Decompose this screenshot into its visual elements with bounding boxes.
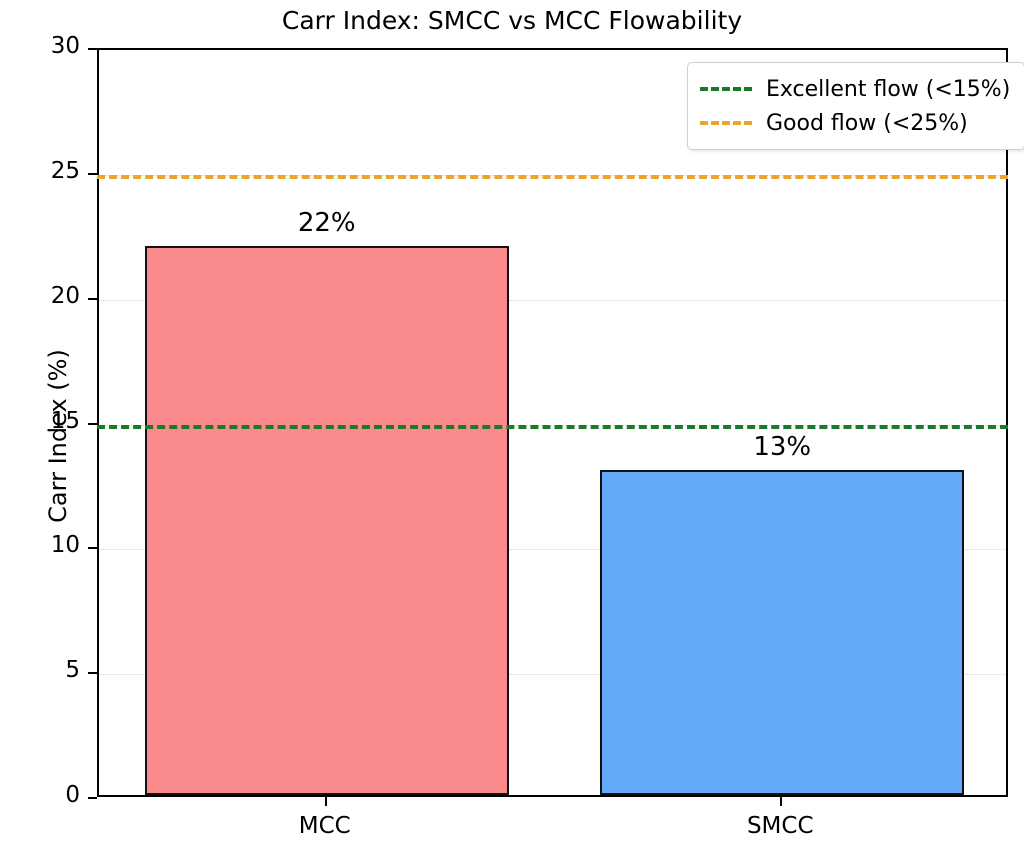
y-tick (88, 672, 97, 674)
x-tick-label-mcc: MCC (175, 813, 475, 839)
excellent-flow-line (97, 425, 1008, 429)
y-tick (88, 547, 97, 549)
page-title: Carr Index: SMCC vs MCC Flowability (0, 6, 1024, 35)
x-tick-label-smcc: SMCC (630, 813, 930, 839)
x-tick (780, 797, 782, 806)
y-tick-label-15: 15 (0, 408, 80, 434)
legend-dashed-line-icon (700, 87, 752, 91)
y-tick (88, 423, 97, 425)
y-tick-label-0: 0 (0, 782, 80, 808)
bar-value-label-smcc: 13% (652, 432, 912, 462)
plot-inner: 22%13% (99, 50, 1006, 795)
bar-value-label-mcc: 22% (197, 208, 457, 238)
bar-mcc[interactable] (145, 246, 509, 795)
plot-area: 22%13% (97, 48, 1008, 797)
y-tick (88, 173, 97, 175)
y-axis-title: Carr Index (%) (44, 306, 72, 566)
y-tick (88, 48, 97, 50)
bar-smcc[interactable] (600, 470, 964, 795)
legend-item-good-flow[interactable]: Good flow (<25%) (700, 106, 1010, 140)
x-tick (325, 797, 327, 806)
y-tick-label-5: 5 (0, 657, 80, 683)
legend-item-label: Good flow (<25%) (766, 111, 968, 136)
legend-item-label: Excellent flow (<15%) (766, 77, 1010, 102)
y-tick-label-20: 20 (0, 283, 80, 309)
y-tick (88, 298, 97, 300)
y-tick-label-30: 30 (0, 33, 80, 59)
good-flow-line (97, 175, 1008, 179)
y-tick (88, 797, 97, 799)
chart-legend: Excellent flow (<15%)Good flow (<25%) (687, 62, 1024, 150)
legend-item-excellent-flow[interactable]: Excellent flow (<15%) (700, 72, 1010, 106)
chart-figure: Carr Index: SMCC vs MCC Flowability Carr… (0, 0, 1024, 852)
y-tick-label-25: 25 (0, 158, 80, 184)
legend-dashed-line-icon (700, 121, 752, 125)
y-tick-label-10: 10 (0, 532, 80, 558)
